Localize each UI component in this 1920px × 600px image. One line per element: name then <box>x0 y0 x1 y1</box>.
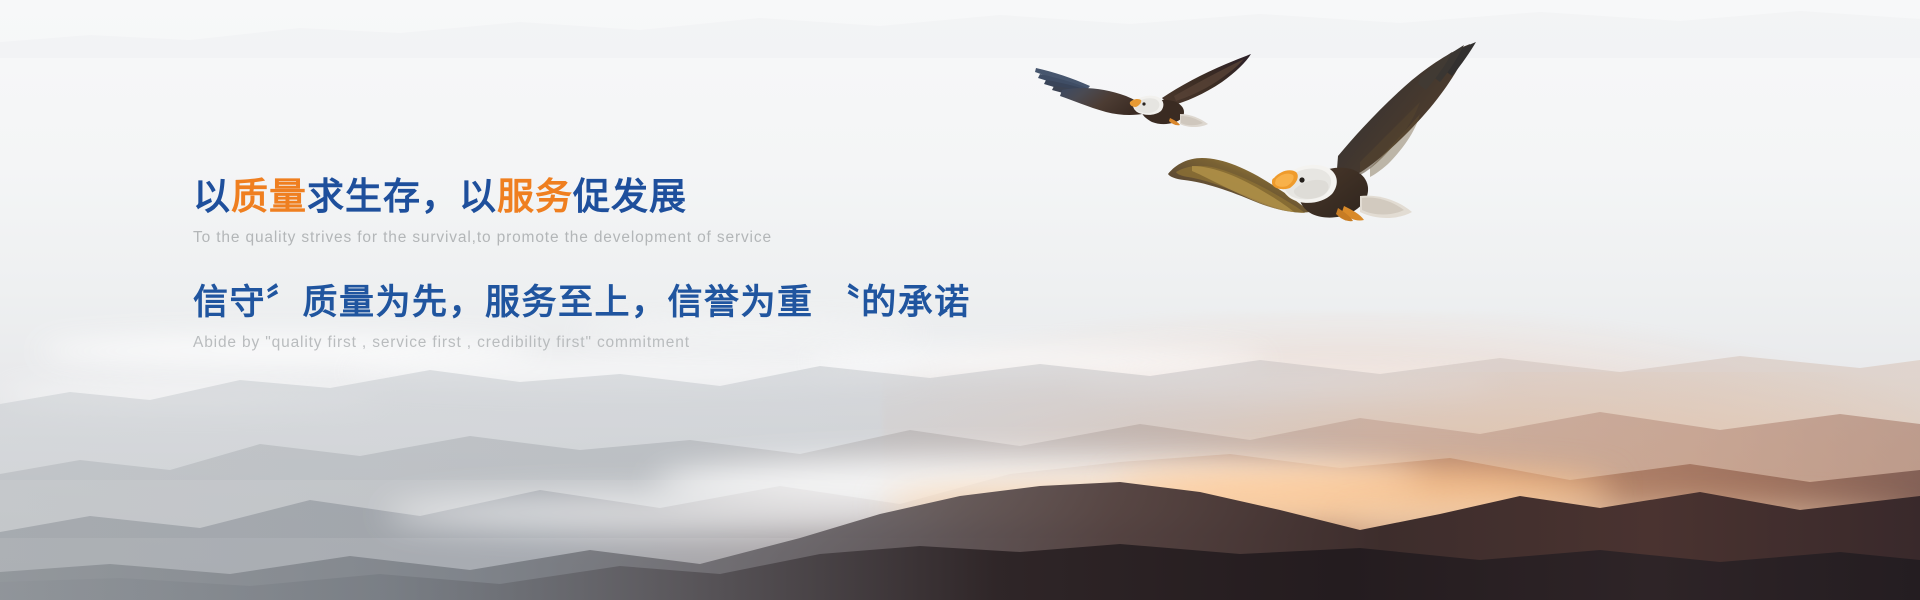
eagle-flying-icon <box>1162 38 1482 250</box>
slogan-1-headline: 以质量求生存，以服务促发展 <box>193 176 1193 219</box>
distant-ridge-top <box>0 2 1920 58</box>
hero-banner: 以质量求生存，以服务促发展 To the quality strives for… <box>0 0 1920 600</box>
slogan-block: 以质量求生存，以服务促发展 To the quality strives for… <box>193 176 1193 355</box>
slogan-1-highlight-quality: 质量 <box>231 176 307 217</box>
slogan-1-subtitle: To the quality strives for the survival,… <box>193 226 1193 249</box>
slogan-2-subtitle: Abide by "quality first , service first … <box>193 331 1193 354</box>
foreground-ridge <box>0 520 1920 600</box>
slogan-1-part-4: 促发展 <box>573 176 687 217</box>
slogan-1-part-2: 求生存，以 <box>307 176 497 217</box>
slogan-1-highlight-service: 服务 <box>497 176 573 217</box>
slogan-2-group: 信守〞质量为先，服务至上，信誉为重 〝的承诺 Abide by "quality… <box>193 282 1193 355</box>
slogan-2-headline: 信守〞质量为先，服务至上，信誉为重 〝的承诺 <box>193 282 1193 323</box>
slogan-1-part-0: 以 <box>193 176 231 217</box>
